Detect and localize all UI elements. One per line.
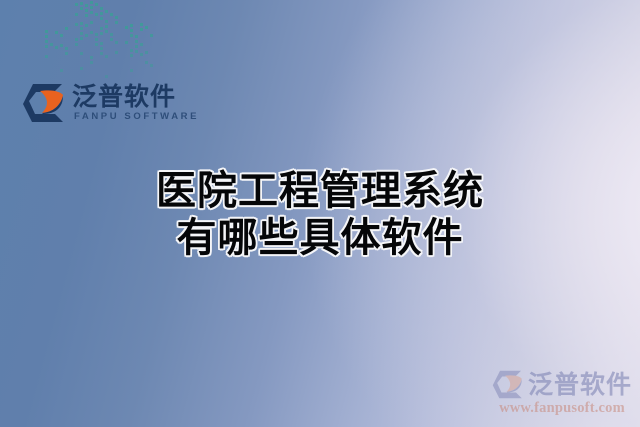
pixel-skyline-decoration xyxy=(45,0,185,82)
watermark: 泛普软件 www.fanpusoft.com xyxy=(492,370,632,417)
brand-logo: 泛普软件 FANPU SOFTWARE xyxy=(22,82,199,124)
brand-wordmark: 泛普软件 FANPU SOFTWARE xyxy=(72,82,199,124)
page-title-line-2: 有哪些具体软件 xyxy=(0,215,640,262)
promo-banner: 泛普软件 FANPU SOFTWARE 医院工程管理系统 有哪些具体软件 泛普软… xyxy=(0,0,640,427)
page-title-line-1: 医院工程管理系统 xyxy=(0,168,640,215)
page-title: 医院工程管理系统 有哪些具体软件 xyxy=(0,168,640,262)
watermark-url: www.fanpusoft.com xyxy=(492,400,632,417)
watermark-hexagon-mark xyxy=(492,370,524,399)
brand-name-cn: 泛普软件 xyxy=(72,84,199,110)
fanpu-hexagon-mark xyxy=(22,83,66,123)
brand-name-en: FANPU SOFTWARE xyxy=(72,110,199,123)
watermark-brand-name: 泛普软件 xyxy=(528,372,632,397)
watermark-brand-row: 泛普软件 xyxy=(492,370,632,399)
